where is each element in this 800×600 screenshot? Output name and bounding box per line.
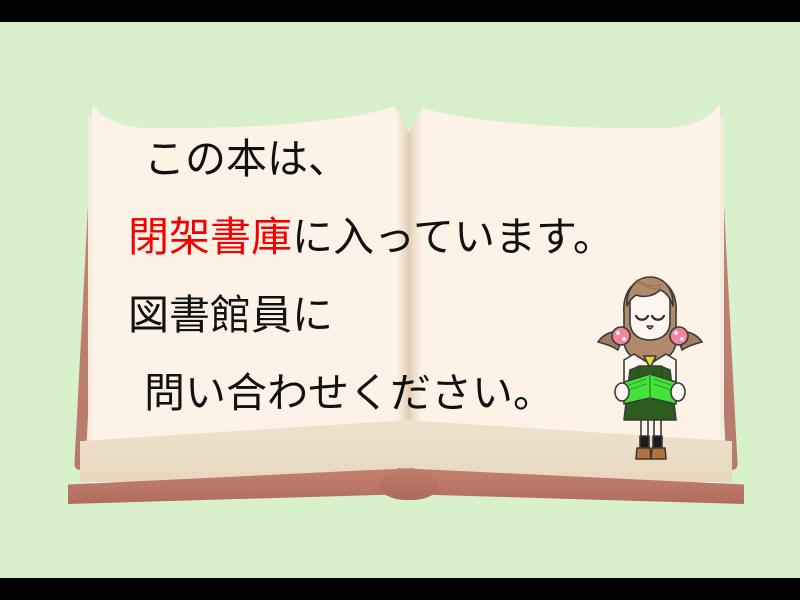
- letterbox-bar-top: [0, 0, 800, 22]
- closed-stacks-highlight: 閉架書庫: [128, 213, 292, 261]
- screenshot-stage: この本は、 閉架書庫に入っています。 図書館員に 問い合わせください。: [0, 0, 800, 600]
- book-spine-knob: [380, 470, 438, 500]
- letterbox-bar-bottom: [0, 578, 800, 600]
- girl-reading-icon: [596, 270, 704, 465]
- message-line-2-rest: に入っています。: [292, 213, 614, 261]
- slide-canvas: この本は、 閉架書庫に入っています。 図書館員に 問い合わせください。: [0, 22, 800, 578]
- message-line-2: 閉架書庫に入っています。: [128, 198, 728, 276]
- message-line-1: この本は、: [128, 120, 728, 198]
